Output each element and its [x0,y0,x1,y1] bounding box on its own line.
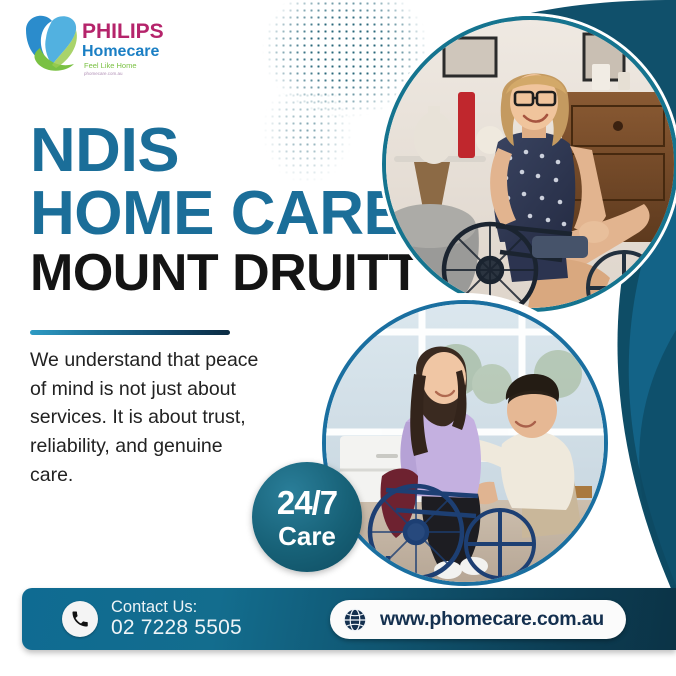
logo-tagline-url: phomecare.com.au [84,71,123,76]
page-title: NDIS HOME CARE MOUNT DRUITT [30,122,400,298]
contact-label: Contact Us: [111,599,242,617]
badge-line-2: Care [278,523,336,549]
logo-primary-text: PHILIPS [82,20,164,43]
photo-woman-wheelchair-livingroom [382,16,676,312]
logo-tagline: Feel Like Home [84,61,137,70]
contact-text: Contact Us: 02 7228 5505 [111,599,242,639]
contact-block[interactable]: Contact Us: 02 7228 5505 [62,599,242,639]
headline-line-1: NDIS [30,122,407,179]
badge-line-1: 24/7 [277,486,337,519]
headline-divider [30,330,230,335]
promotional-poster: PHILIPS Homecare Feel Like Home phomecar… [0,0,676,676]
phone-number[interactable]: 02 7228 5505 [111,617,242,640]
body-paragraph: We understand that peace of mind is not … [30,346,270,489]
globe-icon [342,607,368,633]
website-button[interactable]: www.phomecare.com.au [330,600,626,639]
logo-heart-mark [26,16,77,71]
logo-secondary-text: Homecare [82,43,159,60]
phone-icon [62,601,98,637]
headline-line-2: HOME CARE [30,185,400,242]
body-paragraph-text: We understand that peace of mind is not … [30,346,270,489]
brand-logo[interactable]: PHILIPS Homecare Feel Like Home phomecar… [16,8,166,80]
headline-line-3: MOUNT DRUITT [30,250,400,298]
status-badge: 24/7 Care [252,462,362,572]
photo-caregiver-and-client [322,300,608,586]
website-url: www.phomecare.com.au [380,608,604,631]
